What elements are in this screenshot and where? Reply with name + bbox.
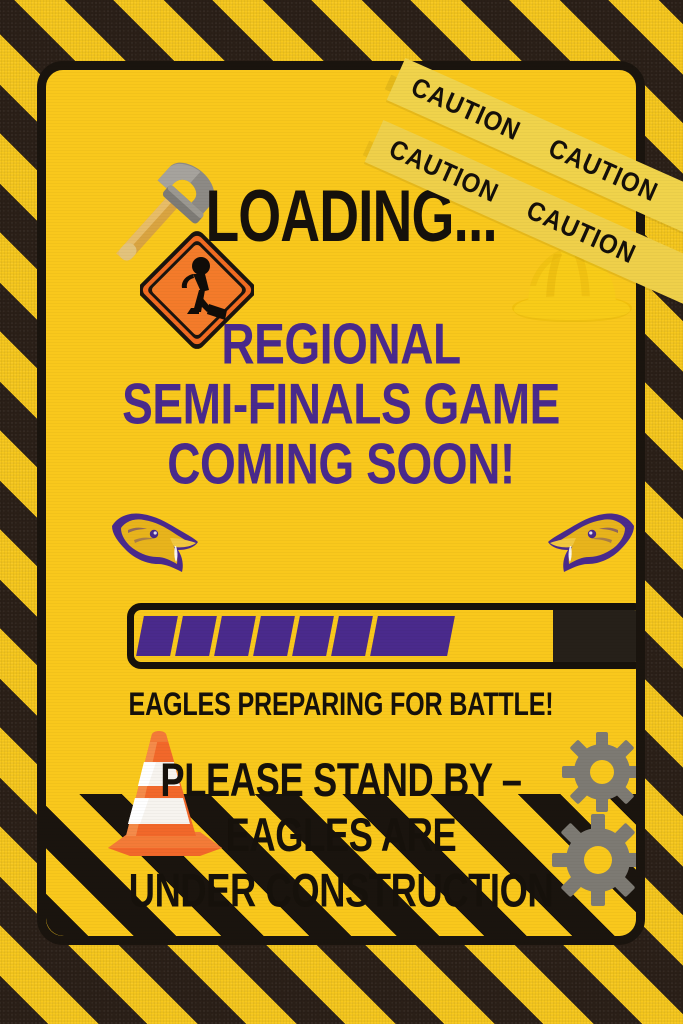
- headline-line-1: REGIONAL: [84, 315, 597, 375]
- headline-line-2: SEMI-FINALS GAME: [84, 375, 597, 435]
- progress-segment: [175, 616, 217, 656]
- standby-message: PLEASE STAND BY – EAGLES ARE UNDER CONST…: [76, 754, 606, 920]
- poster-card: LOADING... REGIONAL SEMI-FINALS GAME COM…: [37, 61, 645, 945]
- progress-segment: [253, 616, 295, 656]
- headline-line-3: COMING SOON!: [84, 435, 597, 495]
- progress-segment: [214, 616, 256, 656]
- progress-segment: [136, 616, 178, 656]
- progress-segment: [331, 616, 373, 656]
- loading-title: LOADING...: [70, 174, 613, 258]
- page-title: REGIONAL SEMI-FINALS GAME COMING SOON!: [84, 315, 597, 496]
- poster-card-inner: LOADING... REGIONAL SEMI-FINALS GAME COM…: [46, 70, 636, 936]
- progress-segments: [140, 616, 451, 656]
- progress-segment: [292, 616, 334, 656]
- eagle-mascot-icon: [546, 510, 636, 574]
- status-text: EAGLES PREPARING FOR BATTLE!: [67, 686, 616, 723]
- progress-segment: [370, 616, 455, 656]
- standby-line-1: PLEASE STAND BY –: [76, 754, 606, 809]
- construction-loading-poster: LOADING... REGIONAL SEMI-FINALS GAME COM…: [0, 0, 683, 1024]
- eagle-mascot-icon: [108, 510, 200, 574]
- progress-empty-block: [553, 610, 636, 662]
- standby-line-3: UNDER CONSTRUCTION: [76, 864, 606, 919]
- loading-progress-bar: [127, 603, 636, 669]
- standby-line-2: EAGLES ARE: [76, 809, 606, 864]
